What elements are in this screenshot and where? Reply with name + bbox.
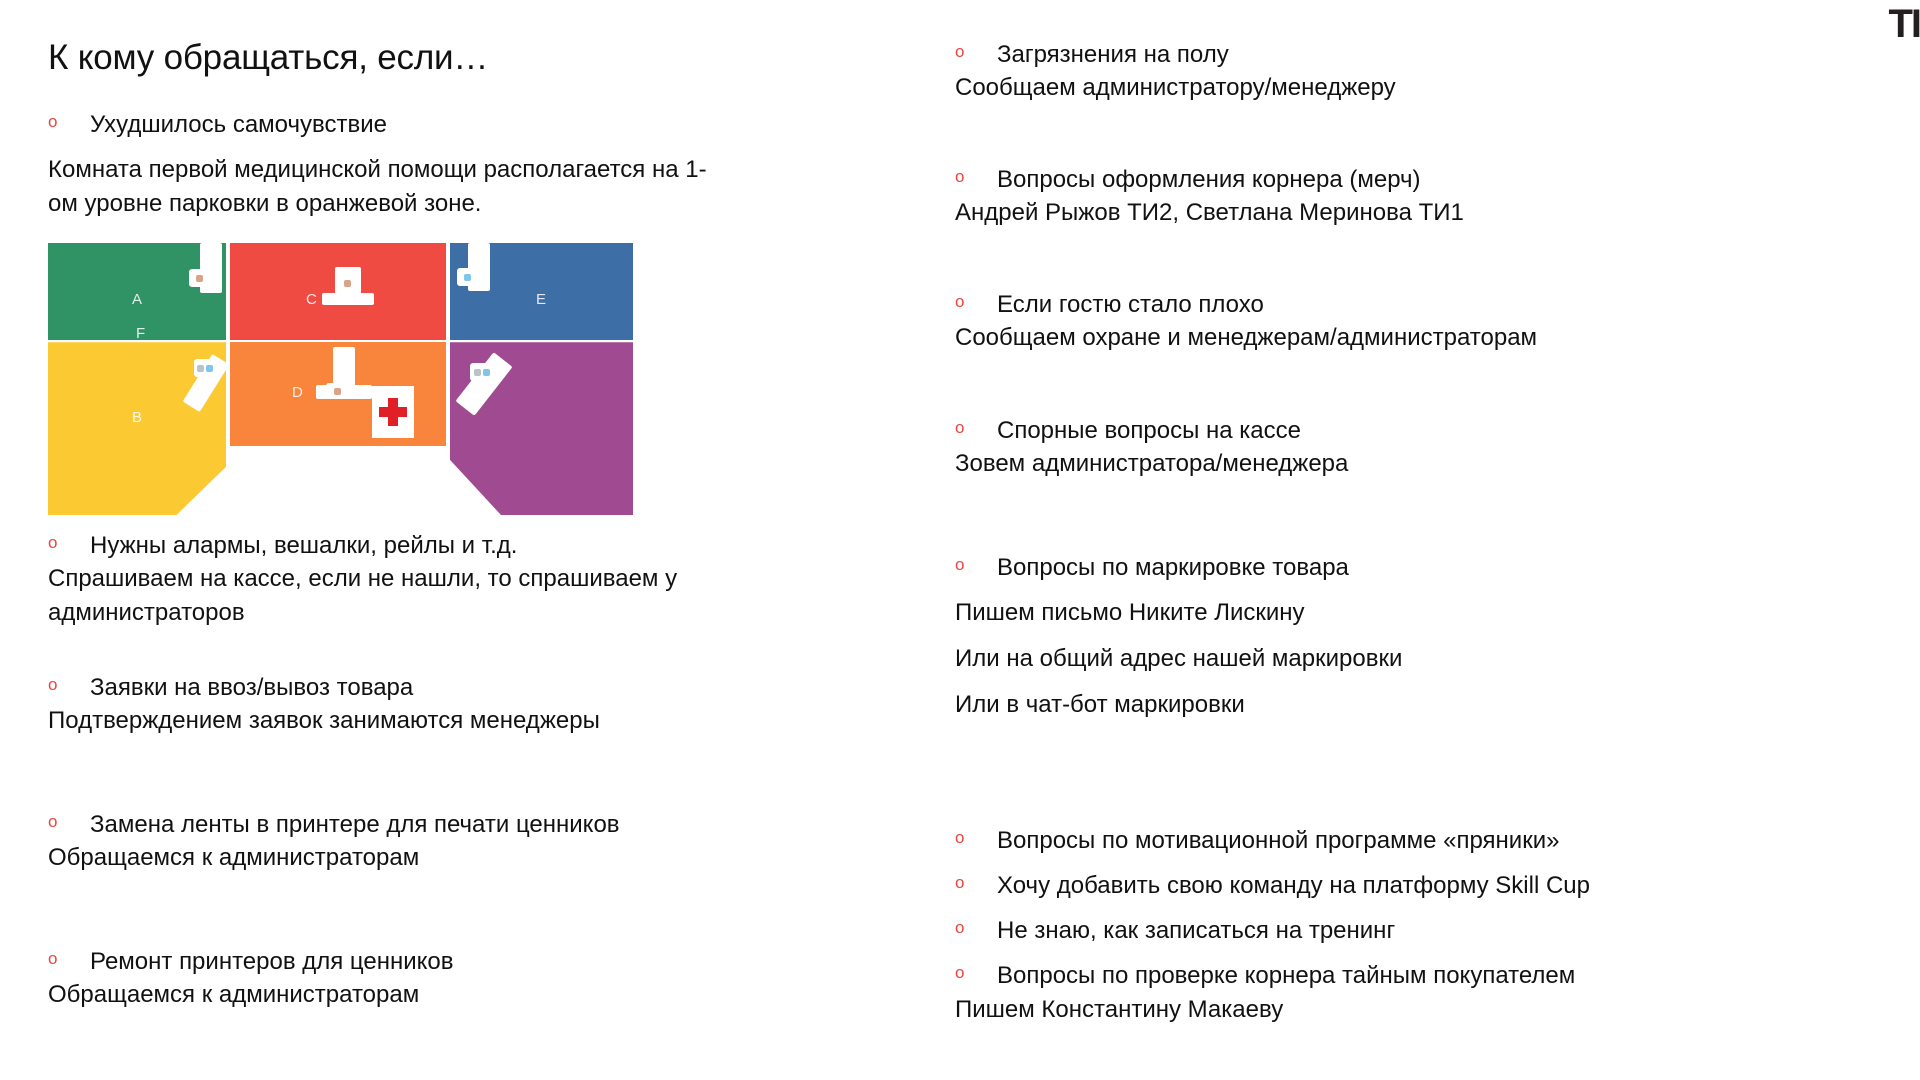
bullet-label: Замена ленты в принтере для печати ценни… <box>90 808 620 841</box>
elevator-marker-icon <box>326 383 348 399</box>
bullet-label: Ремонт принтеров для ценников <box>90 945 454 978</box>
body-line: ом уровне парковки в оранжевой зоне. <box>48 187 788 221</box>
spacer <box>48 881 788 945</box>
body-line: Андрей Рыжов ТИ2, Светлана Меринова ТИ1 <box>955 196 1695 230</box>
parking-map: A C E B D F <box>48 243 633 515</box>
map-zone-e-label: E <box>536 291 547 308</box>
body-line: Или в чат-бот маркировки <box>955 688 1695 722</box>
bullet-item: o Ремонт принтеров для ценников <box>48 945 788 978</box>
bullet-item: o Если гостю стало плохо <box>955 288 1695 321</box>
bullet-marker-icon: o <box>48 529 90 557</box>
stair-marker-icon <box>470 363 494 381</box>
bullet-label: Нужны алармы, вешалки, рейлы и т.д. <box>90 529 517 562</box>
bullet-marker-icon: o <box>955 914 997 942</box>
bullet-marker-icon: o <box>48 108 90 136</box>
spacer <box>955 947 1695 959</box>
icon-dot <box>196 275 203 282</box>
bullet-item: o Хочу добавить свою команду на платформ… <box>955 869 1695 902</box>
body-line: администраторов <box>48 596 788 630</box>
spacer <box>48 141 788 153</box>
left-bullet-block-5: o Ремонт принтеров для ценников Обращаем… <box>48 945 788 1012</box>
red-cross-icon <box>372 386 414 438</box>
bullet-label: Хочу добавить свою команду на платформу … <box>997 869 1590 902</box>
bullet-marker-icon: o <box>48 671 90 699</box>
bullet-marker-icon: o <box>955 551 997 579</box>
body-line: Пишем Константину Макаеву <box>955 993 1695 1027</box>
body-line: Или на общий адрес нашей маркировки <box>955 642 1695 676</box>
right-bullet-block-4: o Спорные вопросы на кассе Зовем админис… <box>955 414 1695 481</box>
slide-root: TI К кому обращаться, если… o Ухудшилось… <box>0 0 1920 1080</box>
body-line: Сообщаем администратору/менеджеру <box>955 71 1695 105</box>
bullet-item: o Ухудшилось самочувствие <box>48 108 788 141</box>
right-bullet-block-2: o Вопросы оформления корнера (мерч) Андр… <box>955 163 1695 230</box>
icon-dot <box>483 369 490 376</box>
bullet-marker-icon: o <box>955 288 997 316</box>
bullet-marker-icon: o <box>955 824 997 852</box>
page-title: К кому обращаться, если… <box>48 38 788 78</box>
bullet-item: o Загрязнения на полу <box>955 38 1695 71</box>
bullet-marker-icon: o <box>955 414 997 442</box>
spacer <box>955 630 1695 642</box>
spacer <box>955 362 1695 414</box>
bullet-marker-icon: o <box>48 808 90 836</box>
bullet-label: Вопросы по проверке корнера тайным покуп… <box>997 959 1575 992</box>
body-line: Комната первой медицинской помощи распол… <box>48 153 788 187</box>
spacer <box>955 728 1695 824</box>
bullet-marker-icon: o <box>955 38 997 66</box>
icon-dot <box>197 365 204 372</box>
map-zone-a-label: A <box>132 291 143 308</box>
bullet-item: o Вопросы по маркировке товара <box>955 551 1695 584</box>
bullet-label: Вопросы по маркировке товара <box>997 551 1349 584</box>
icon-dot <box>334 388 341 395</box>
bullet-label: Заявки на ввоз/вывоз товара <box>90 671 413 704</box>
map-zone-c-label: C <box>306 291 318 308</box>
right-bullet-block-3: o Если гостю стало плохо Сообщаем охране… <box>955 288 1695 355</box>
icon-dot <box>464 274 471 281</box>
spacer <box>48 637 788 671</box>
bullet-marker-icon: o <box>955 163 997 191</box>
bullet-item: o Заявки на ввоз/вывоз товара <box>48 671 788 704</box>
map-zone-b-label: B <box>132 409 143 426</box>
escalator-marker-icon <box>457 268 477 286</box>
map-zone-d-label: D <box>292 384 304 401</box>
left-bullet-block-4: o Замена ленты в принтере для печати цен… <box>48 808 788 875</box>
left-column: К кому обращаться, если… o Ухудшилось са… <box>48 38 788 1018</box>
spacer <box>955 676 1695 688</box>
right-column: o Загрязнения на полу Сообщаем администр… <box>955 38 1695 1033</box>
bullet-label: Вопросы по мотивационной программе «прян… <box>997 824 1559 857</box>
bullet-item: o Не знаю, как записаться на тренинг <box>955 914 1695 947</box>
map-zone-f-label: F <box>136 325 146 342</box>
bullet-item: o Вопросы по проверке корнера тайным пок… <box>955 959 1695 992</box>
bullet-label: Ухудшилось самочувствие <box>90 108 387 141</box>
spacer <box>955 857 1695 869</box>
bullet-item: o Вопросы оформления корнера (мерч) <box>955 163 1695 196</box>
right-bullet-block-6: o Вопросы по мотивационной программе «пр… <box>955 824 1695 1027</box>
bullet-label: Вопросы оформления корнера (мерч) <box>997 163 1421 196</box>
left-bullet-block-1: o Ухудшилось самочувствие Комната первой… <box>48 108 788 221</box>
body-line: Обращаемся к администраторам <box>48 978 788 1012</box>
bullet-label: Если гостю стало плохо <box>997 288 1264 321</box>
elevator-marker-icon <box>337 273 357 293</box>
icon-dot <box>206 365 213 372</box>
body-line: Сообщаем охране и менеджерам/администрат… <box>955 321 1695 355</box>
bullet-marker-icon: o <box>955 869 997 897</box>
left-bullet-block-3: o Заявки на ввоз/вывоз товара Подтвержде… <box>48 671 788 738</box>
spacer <box>955 111 1695 163</box>
spacer <box>955 236 1695 288</box>
spacer <box>955 487 1695 551</box>
right-bullet-block-5: o Вопросы по маркировке товара Пишем пис… <box>955 551 1695 722</box>
body-line: Зовем администратора/менеджера <box>955 447 1695 481</box>
bullet-item: o Вопросы по мотивационной программе «пр… <box>955 824 1695 857</box>
bullet-label: Не знаю, как записаться на тренинг <box>997 914 1395 947</box>
icon-dot <box>344 280 351 287</box>
ti-logo: TI <box>1888 4 1920 44</box>
body-line: Обращаемся к администраторам <box>48 841 788 875</box>
body-line: Спрашиваем на кассе, если не нашли, то с… <box>48 562 788 596</box>
bullet-item: o Замена ленты в принтере для печати цен… <box>48 808 788 841</box>
body-line: Подтверждением заявок занимаются менедже… <box>48 704 788 738</box>
bullet-item: o Нужны алармы, вешалки, рейлы и т.д. <box>48 529 788 562</box>
right-bullet-block-1: o Загрязнения на полу Сообщаем администр… <box>955 38 1695 105</box>
map-canvas: A C E B D F <box>48 243 633 515</box>
body-line: Пишем письмо Никите Лискину <box>955 596 1695 630</box>
spacer <box>955 902 1695 914</box>
left-bullet-block-2: o Нужны алармы, вешалки, рейлы и т.д. Сп… <box>48 529 788 630</box>
spacer <box>955 584 1695 596</box>
bullet-label: Загрязнения на полу <box>997 38 1229 71</box>
spacer <box>48 744 788 808</box>
escalator-marker-icon <box>189 269 209 287</box>
bullet-marker-icon: o <box>48 945 90 973</box>
bullet-label: Спорные вопросы на кассе <box>997 414 1301 447</box>
cross-bar-vertical <box>388 398 398 426</box>
elevator-base-icon <box>322 293 374 305</box>
icon-dot <box>474 369 481 376</box>
stair-marker-icon <box>194 359 216 377</box>
bullet-item: o Спорные вопросы на кассе <box>955 414 1695 447</box>
bullet-marker-icon: o <box>955 959 997 987</box>
